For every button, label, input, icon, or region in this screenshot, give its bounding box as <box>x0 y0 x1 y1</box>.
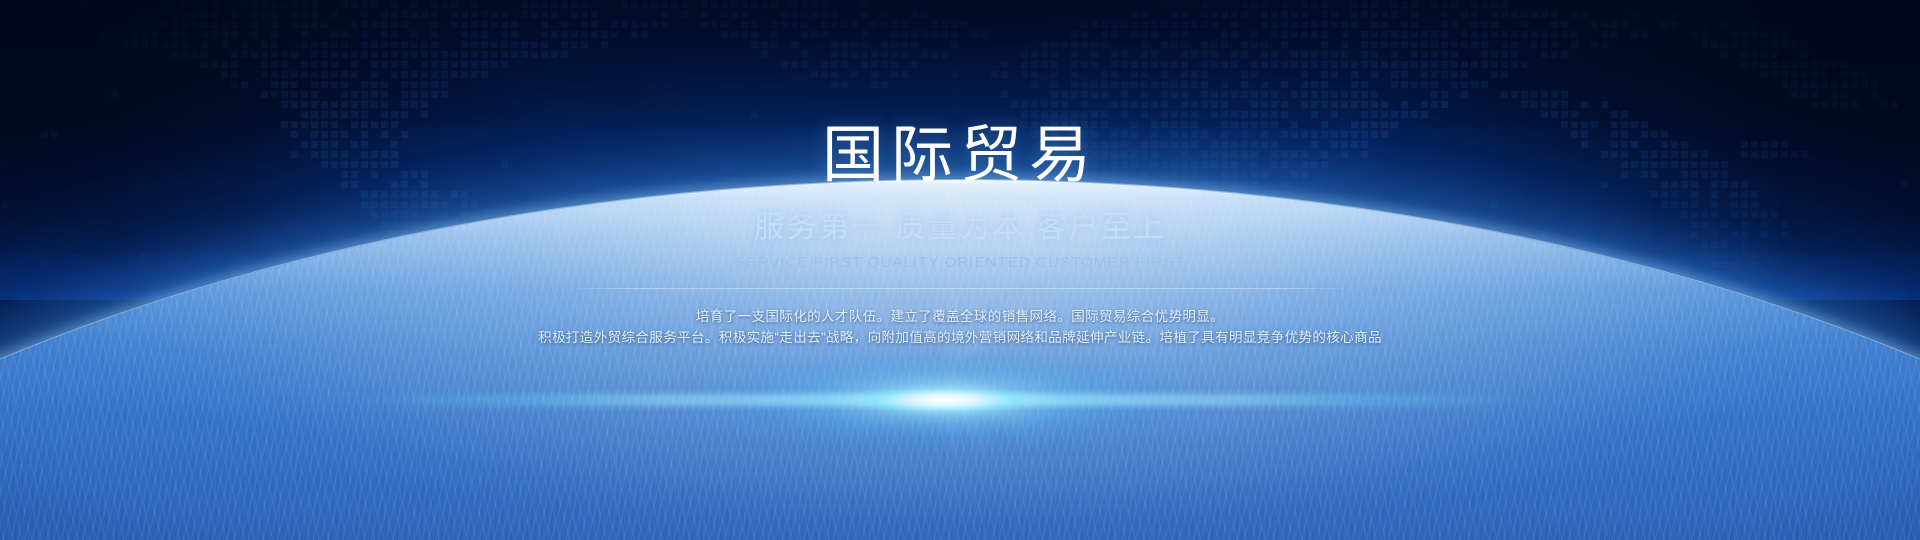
description-line-2: 积极打造外贸综合服务平台。积极实施“走出去”战略，向附加值高的境外营销网络和品牌… <box>538 327 1382 348</box>
description-block: 培育了一支国际化的人才队伍。建立了覆盖全球的销售网络。国际贸易综合优势明显。 积… <box>538 306 1382 348</box>
subtitle-chinese: 服务第一 质量为本 客户至上 <box>754 213 1166 243</box>
subtitle-english: SERVICE FIRST QUALITY ORIENTED CUSTOMER … <box>735 255 1184 270</box>
description-line-1: 培育了一支国际化的人才队伍。建立了覆盖全球的销售网络。国际贸易综合优势明显。 <box>538 306 1382 327</box>
banner-content: 国际贸易 服务第一 质量为本 客户至上 SERVICE FIRST QUALIT… <box>0 0 1920 540</box>
horizontal-divider <box>575 288 1345 289</box>
page-title: 国际贸易 <box>822 125 1098 187</box>
international-trade-banner: 国际贸易 服务第一 质量为本 客户至上 SERVICE FIRST QUALIT… <box>0 0 1920 540</box>
